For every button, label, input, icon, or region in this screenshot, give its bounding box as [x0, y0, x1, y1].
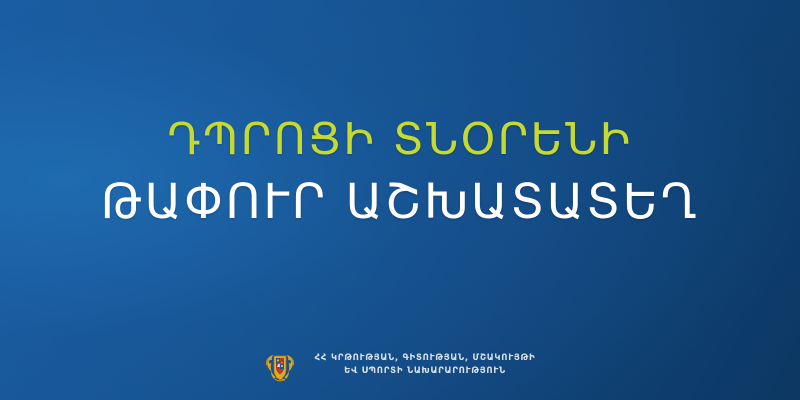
- armenian-coat-of-arms-icon: [265, 347, 295, 383]
- headline-block: ԴՊՐՈՑԻ ՏՆՕՐԵՆԻ ԹԱՓՈՒՐ ԱՇԽԱՏԱՏԵՂ: [0, 118, 800, 226]
- footer-block: ՀՀ ԿՐԹՈՒԹՅԱՆ, ԳԻՏՈՒԹՅԱՆ, ՄՇԱԿՈՒՅԹԻ ԵՎ ՍՊ…: [0, 338, 800, 392]
- headline-line-2: ԹԱՓՈՒՐ ԱՇԽԱՏԱՏԵՂ: [0, 178, 800, 226]
- ministry-caption-line-2: ԵՎ ՍՊՈՐՏԻ ՆԱԽԱՐԱՐՈՒԹՅՈՒՆ: [315, 365, 536, 378]
- announcement-banner: ԴՊՐՈՑԻ ՏՆՕՐԵՆԻ ԹԱՓՈՒՐ ԱՇԽԱՏԱՏԵՂ: [0, 0, 800, 400]
- ministry-caption: ՀՀ ԿՐԹՈՒԹՅԱՆ, ԳԻՏՈՒԹՅԱՆ, ՄՇԱԿՈՒՅԹԻ ԵՎ ՍՊ…: [315, 352, 536, 378]
- ministry-caption-line-1: ՀՀ ԿՐԹՈՒԹՅԱՆ, ԳԻՏՈՒԹՅԱՆ, ՄՇԱԿՈՒՅԹԻ: [315, 352, 536, 365]
- headline-line-1: ԴՊՐՈՑԻ ՏՆՕՐԵՆԻ: [0, 118, 800, 162]
